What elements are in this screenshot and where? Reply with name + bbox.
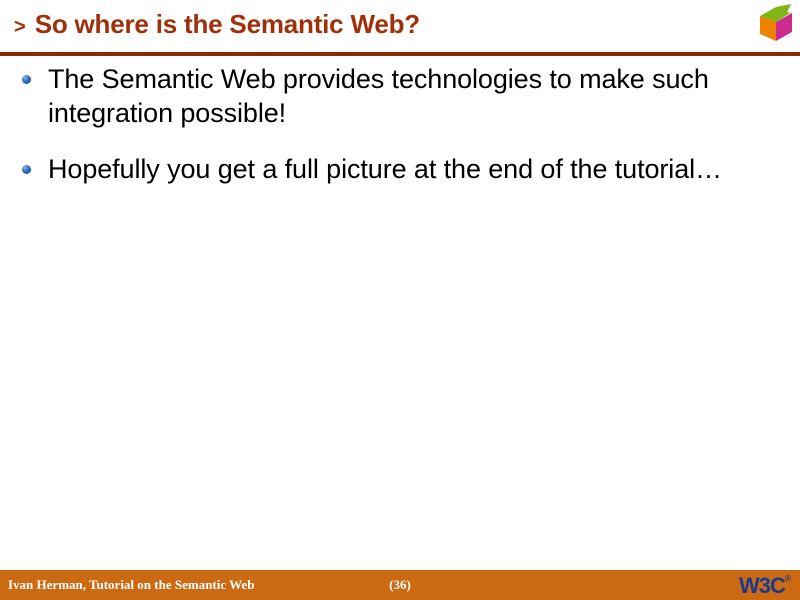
slide-title-area: > So where is the Semantic Web? <box>0 0 800 52</box>
bullet-text: The Semantic Web provides technologies t… <box>48 64 709 128</box>
slide-footer: Ivan Herman, Tutorial on the Semantic We… <box>0 570 800 600</box>
page-number: (36) <box>0 577 800 593</box>
slide-title-row: > So where is the Semantic Web? <box>14 10 420 39</box>
slide-canvas: > So where is the Semantic Web? The Sema… <box>0 0 800 600</box>
blue-sphere-bullet-icon <box>22 75 31 84</box>
cube-logo-icon <box>755 2 797 46</box>
svg-text:®: ® <box>785 574 791 583</box>
list-item: Hopefully you get a full picture at the … <box>0 152 800 186</box>
w3c-logo-icon: W3C ® <box>738 571 796 599</box>
page-title: So where is the Semantic Web? <box>35 10 420 39</box>
slide-body: The Semantic Web provides technologies t… <box>0 62 800 208</box>
svg-text:W3C: W3C <box>739 573 786 598</box>
bullet-text: Hopefully you get a full picture at the … <box>48 154 722 184</box>
list-item: The Semantic Web provides technologies t… <box>0 62 800 130</box>
blue-sphere-bullet-icon <box>22 165 31 174</box>
chevron-right-icon: > <box>14 17 26 37</box>
title-divider <box>0 52 800 56</box>
